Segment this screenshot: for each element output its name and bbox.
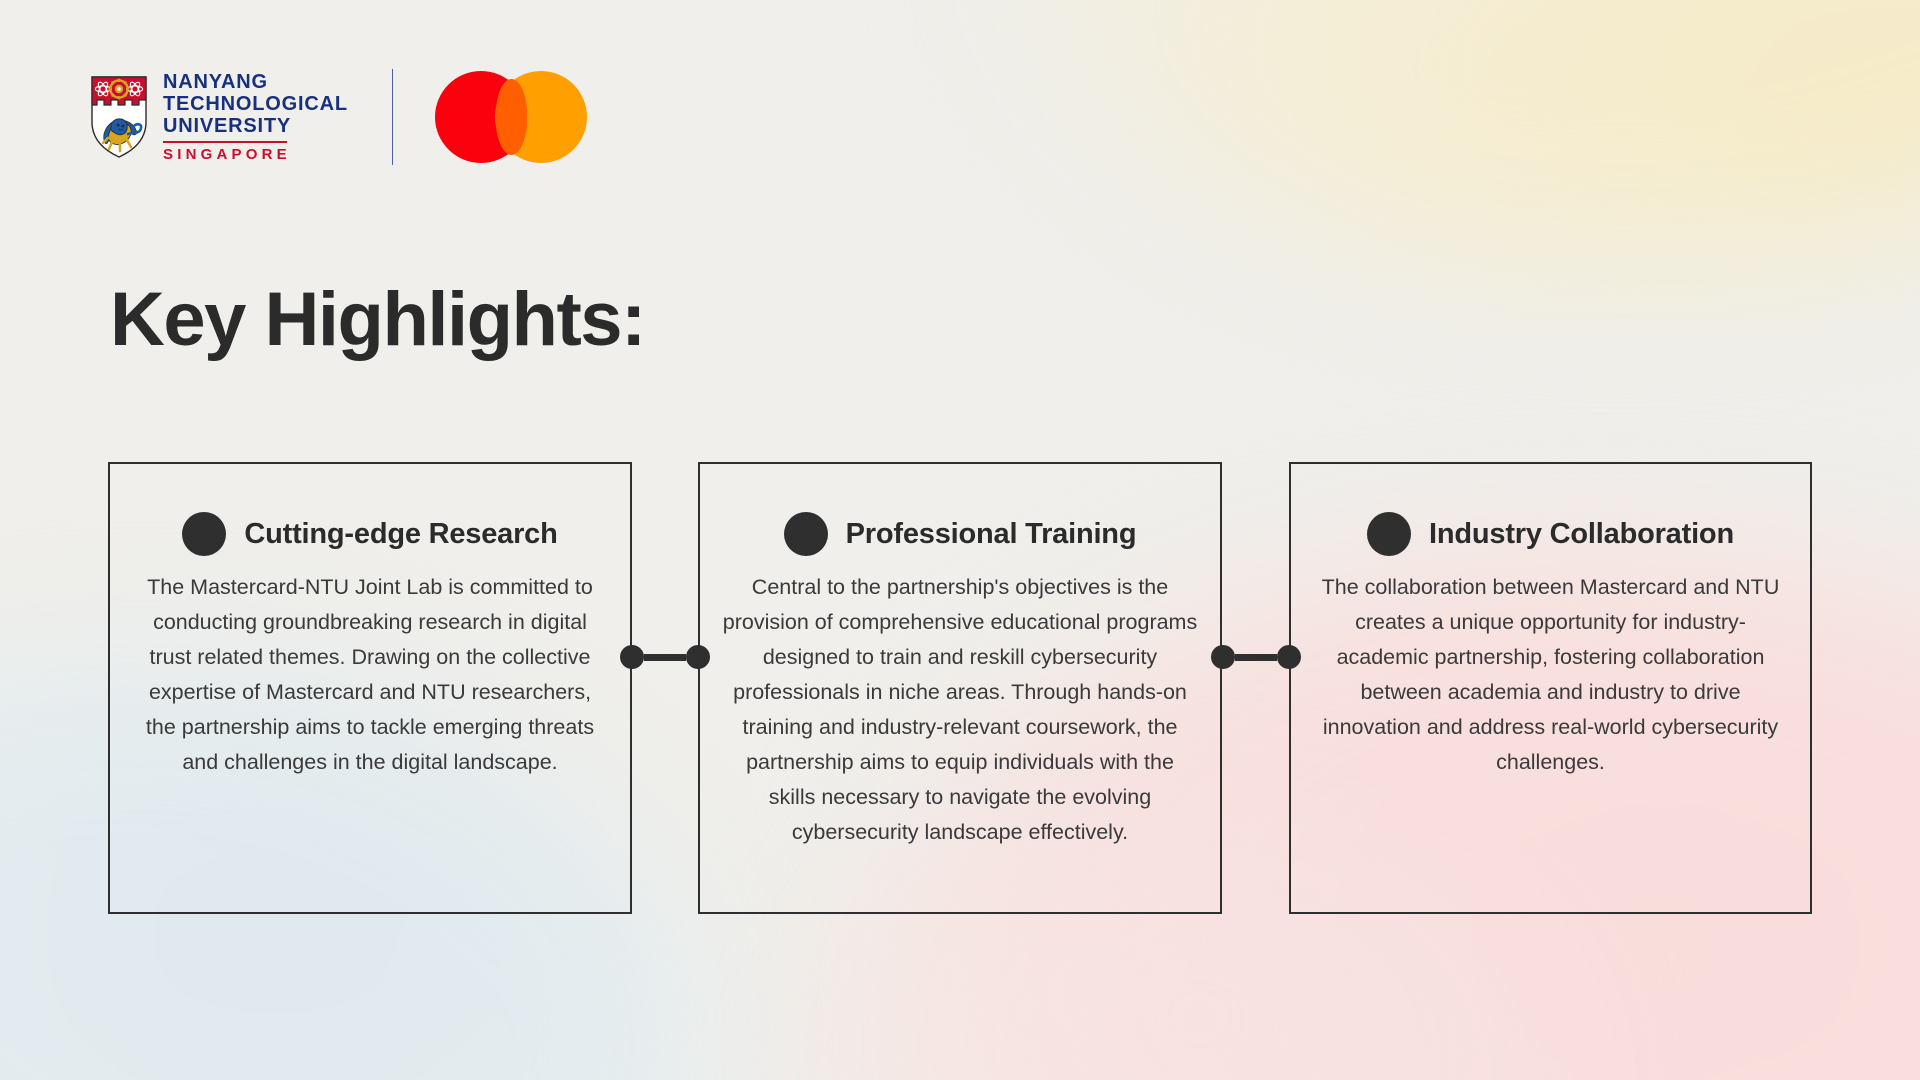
connector-dot-right-icon [1277, 645, 1301, 669]
card-body: The Mastercard-NTU Joint Lab is committe… [132, 570, 608, 780]
ntu-line-singapore: SINGAPORE [163, 146, 348, 163]
bullet-dot-icon [784, 512, 828, 556]
connector-dot-right-icon [686, 645, 710, 669]
card-title: Industry Collaboration [1429, 518, 1734, 551]
bullet-dot-icon [1367, 512, 1411, 556]
ntu-line-university: UNIVERSITY [163, 115, 348, 137]
ntu-line-nanyang: NANYANG [163, 71, 348, 93]
card-body: Central to the partnership's objectives … [722, 570, 1198, 850]
connector-card2-card3 [1211, 645, 1301, 669]
page-title: Key Highlights: [110, 282, 645, 358]
ntu-red-rule [163, 141, 287, 144]
connector-bar [644, 654, 686, 661]
card-header: Industry Collaboration [1313, 512, 1788, 556]
connector-bar [1235, 654, 1277, 661]
bullet-dot-icon [182, 512, 226, 556]
highlight-card-cutting-edge-research[interactable]: Cutting-edge Research The Mastercard-NTU… [108, 462, 632, 914]
ntu-wordmark: NANYANG TECHNOLOGICAL UNIVERSITY SINGAPO… [163, 71, 348, 164]
background-wash-cream [1000, 0, 1920, 270]
connector-dot-left-icon [620, 645, 644, 669]
connector-card1-card2 [620, 645, 710, 669]
ntu-crest-icon [90, 76, 148, 158]
card-title: Professional Training [846, 518, 1137, 551]
connector-dot-left-icon [1211, 645, 1235, 669]
ntu-logo: NANYANG TECHNOLOGICAL UNIVERSITY SINGAPO… [90, 71, 348, 164]
highlight-card-professional-training[interactable]: Professional Training Central to the par… [698, 462, 1222, 914]
card-header: Cutting-edge Research [132, 512, 608, 556]
highlight-card-industry-collaboration[interactable]: Industry Collaboration The collaboration… [1289, 462, 1812, 914]
highlights-card-row: Cutting-edge Research The Mastercard-NTU… [108, 462, 1812, 916]
mastercard-logo [435, 71, 587, 163]
ntu-line-technological: TECHNOLOGICAL [163, 93, 348, 115]
card-body: The collaboration between Mastercard and… [1313, 570, 1788, 780]
card-header: Professional Training [722, 512, 1198, 556]
logo-divider [392, 69, 394, 165]
logo-bar: NANYANG TECHNOLOGICAL UNIVERSITY SINGAPO… [90, 62, 587, 172]
card-title: Cutting-edge Research [244, 518, 557, 551]
